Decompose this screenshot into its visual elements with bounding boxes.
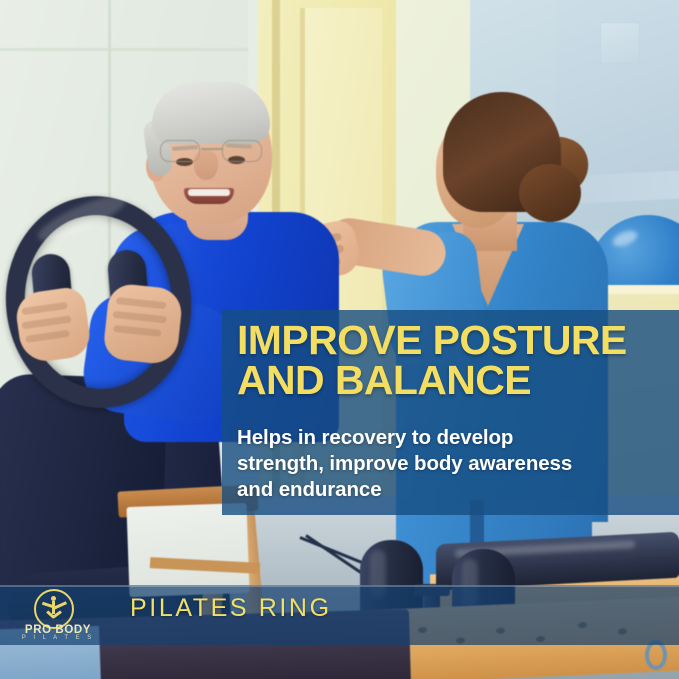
- subheadline-line-2: strength, improve body awareness: [237, 451, 667, 477]
- brand-subtitle: P I L A T E S: [8, 635, 108, 641]
- subheadline-line-1: Helps in recovery to develop: [237, 425, 667, 451]
- headline-line-1: IMPROVE POSTURE: [237, 320, 679, 360]
- subheadline-line-3: and endurance: [237, 477, 667, 503]
- headline-line-2: AND BALANCE: [237, 360, 679, 400]
- pro-body-pilates-logo-icon: [34, 589, 74, 629]
- brand-logo: PRO BODY P I L A T E S: [8, 588, 108, 640]
- product-image: IMPROVE POSTURE AND BALANCE Helps in rec…: [0, 0, 679, 679]
- subheadline: Helps in recovery to develop strength, i…: [237, 425, 667, 503]
- product-name-label: PILATES RING: [130, 594, 332, 623]
- logo-figure-icon: [45, 596, 63, 622]
- headline: IMPROVE POSTURE AND BALANCE: [237, 320, 679, 400]
